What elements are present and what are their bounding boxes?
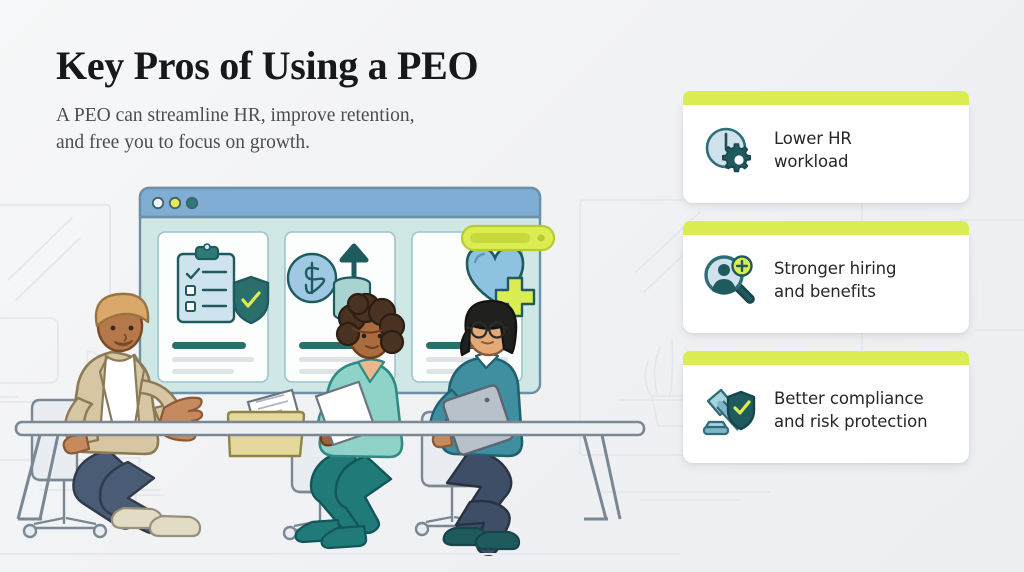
card-accent-bar <box>683 221 969 235</box>
team-meeting-illustration <box>0 150 680 572</box>
benefit-card-lower-hr-workload[interactable]: Lower HR workload <box>683 98 969 203</box>
window-dot-3 <box>187 198 197 208</box>
window-dot-2 <box>170 198 180 208</box>
clock-gear-icon <box>701 123 759 179</box>
card-accent-bar <box>683 351 969 365</box>
benefit-card-label: Stronger hiring and benefits <box>774 258 896 302</box>
window-dot-1 <box>153 198 163 208</box>
benefit-card-label: Lower HR workload <box>774 128 852 172</box>
page-title: Key Pros of Using a PEO <box>56 44 636 89</box>
gavel-shield-check-icon <box>701 383 759 439</box>
progress-pill-badge <box>462 226 554 250</box>
magnifier-person-plus-icon <box>701 253 759 309</box>
card-accent-bar <box>683 91 969 105</box>
page-subtitle: A PEO can streamline HR, improve retenti… <box>56 102 636 157</box>
benefits-card-list: Lower HR workload Stronger hiring and be… <box>683 98 969 463</box>
benefit-card-label: Better compliance and risk protection <box>774 388 927 432</box>
headline-block: Key Pros of Using a PEO A PEO can stream… <box>56 44 636 157</box>
benefit-card-stronger-hiring[interactable]: Stronger hiring and benefits <box>683 228 969 333</box>
benefit-card-better-compliance[interactable]: Better compliance and risk protection <box>683 358 969 463</box>
